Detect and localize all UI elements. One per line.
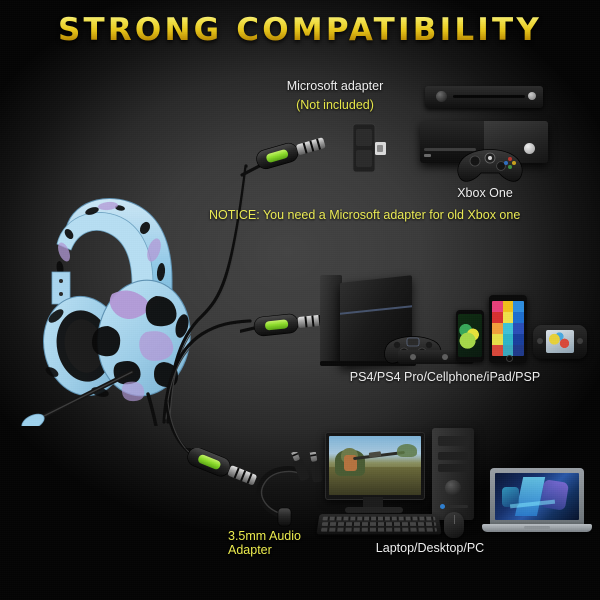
xbox-one-device-image bbox=[420, 86, 550, 186]
microsoft-adapter-label: Microsoft adapter bbox=[255, 79, 415, 93]
xbox-one-label: Xbox One bbox=[420, 186, 550, 200]
inline-control-xbox bbox=[236, 128, 336, 180]
xbox-controller bbox=[455, 146, 525, 186]
kinect-sensor bbox=[425, 86, 543, 108]
psp-image bbox=[533, 325, 587, 359]
desktop-tower-image bbox=[432, 428, 474, 520]
pc-group-label: Laptop/Desktop/PC bbox=[330, 541, 530, 555]
audio-adapter-label: 3.5mm Audio Adapter bbox=[228, 529, 301, 557]
laptop-image bbox=[482, 468, 592, 536]
ps4-group-label: PS4/PS4 Pro/Cellphone/iPad/PSP bbox=[300, 370, 590, 384]
tablet-image bbox=[489, 295, 527, 363]
desktop-monitor-image bbox=[325, 432, 425, 500]
keyboard-image bbox=[316, 514, 441, 534]
infographic-canvas: STRONG COMPATIBILITY bbox=[0, 0, 600, 600]
mouse-image bbox=[444, 512, 464, 538]
audio-adapter-label-line1: 3.5mm Audio bbox=[228, 529, 301, 543]
monitor-stand-base bbox=[345, 507, 403, 513]
notice-text: NOTICE: You need a Microsoft adapter for… bbox=[209, 208, 520, 222]
microsoft-adapter-image bbox=[345, 120, 393, 176]
cellphone-image bbox=[456, 310, 484, 362]
audio-adapter-label-line2: Adapter bbox=[228, 543, 301, 557]
microsoft-adapter-note: (Not included) bbox=[255, 98, 415, 112]
page-title: STRONG COMPATIBILITY bbox=[0, 12, 600, 48]
audio-splitter-adapter-image bbox=[236, 452, 326, 528]
